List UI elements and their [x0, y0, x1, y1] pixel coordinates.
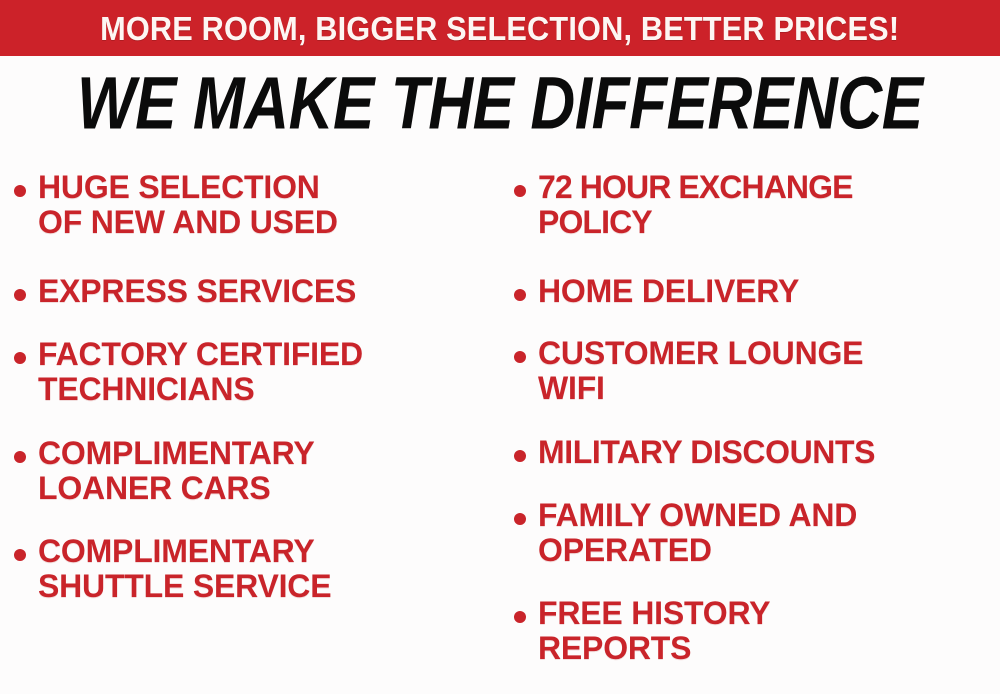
bullet-dot-icon — [14, 289, 26, 301]
bullet-dot-icon — [14, 451, 26, 463]
list-item-label: COMPLIMENTARY LOANER CARS — [38, 436, 500, 506]
benefits-columns: HUGE SELECTION OF NEW AND USED EXPRESS S… — [0, 152, 1000, 694]
list-item: EXPRESS SERVICES — [14, 274, 500, 309]
bullet-dot-icon — [514, 185, 526, 197]
list-item: HOME DELIVERY — [514, 274, 1000, 309]
list-item: MILITARY DISCOUNTS — [514, 435, 1000, 470]
list-item-label: CUSTOMER LOUNGE WIFI — [538, 336, 1000, 406]
list-item-label: HUGE SELECTION OF NEW AND USED — [38, 170, 500, 240]
list-item-label: COMPLIMENTARY SHUTTLE SERVICE — [38, 534, 500, 604]
benefits-column-left: HUGE SELECTION OF NEW AND USED EXPRESS S… — [14, 152, 500, 694]
benefits-column-right: 72 HOUR EXCHANGE POLICY HOME DELIVERY CU… — [514, 152, 1000, 694]
list-item-label: HOME DELIVERY — [538, 274, 1000, 309]
list-item: 72 HOUR EXCHANGE POLICY — [514, 170, 1000, 240]
bullet-dot-icon — [14, 352, 26, 364]
list-item-label: EXPRESS SERVICES — [38, 274, 500, 309]
page-title: WE MAKE THE DIFFERENCE — [77, 66, 923, 140]
list-item-label: MILITARY DISCOUNTS — [538, 435, 1000, 470]
list-item: COMPLIMENTARY LOANER CARS — [14, 436, 500, 506]
bullet-dot-icon — [514, 513, 526, 525]
bullet-dot-icon — [514, 289, 526, 301]
list-item: FREE HISTORY REPORTS — [514, 596, 1000, 666]
list-item-label: FREE HISTORY REPORTS — [538, 596, 1000, 666]
headline-container: WE MAKE THE DIFFERENCE — [0, 66, 1000, 140]
list-item: CUSTOMER LOUNGE WIFI — [514, 336, 1000, 406]
list-item-label: FACTORY CERTIFIED TECHNICIANS — [38, 337, 500, 407]
list-item-label: FAMILY OWNED AND OPERATED — [538, 498, 1000, 568]
list-item: FACTORY CERTIFIED TECHNICIANS — [14, 337, 500, 407]
list-item-label: 72 HOUR EXCHANGE POLICY — [538, 170, 1000, 240]
list-item: COMPLIMENTARY SHUTTLE SERVICE — [14, 534, 500, 604]
bullet-dot-icon — [14, 185, 26, 197]
bullet-dot-icon — [14, 549, 26, 561]
bullet-dot-icon — [514, 611, 526, 623]
list-item: FAMILY OWNED AND OPERATED — [514, 498, 1000, 568]
top-banner: MORE ROOM, BIGGER SELECTION, BETTER PRIC… — [0, 0, 1000, 56]
banner-headline: MORE ROOM, BIGGER SELECTION, BETTER PRIC… — [100, 12, 899, 45]
bullet-dot-icon — [514, 351, 526, 363]
list-item: HUGE SELECTION OF NEW AND USED — [14, 170, 500, 240]
promotional-poster: MORE ROOM, BIGGER SELECTION, BETTER PRIC… — [0, 0, 1000, 694]
bullet-dot-icon — [514, 450, 526, 462]
